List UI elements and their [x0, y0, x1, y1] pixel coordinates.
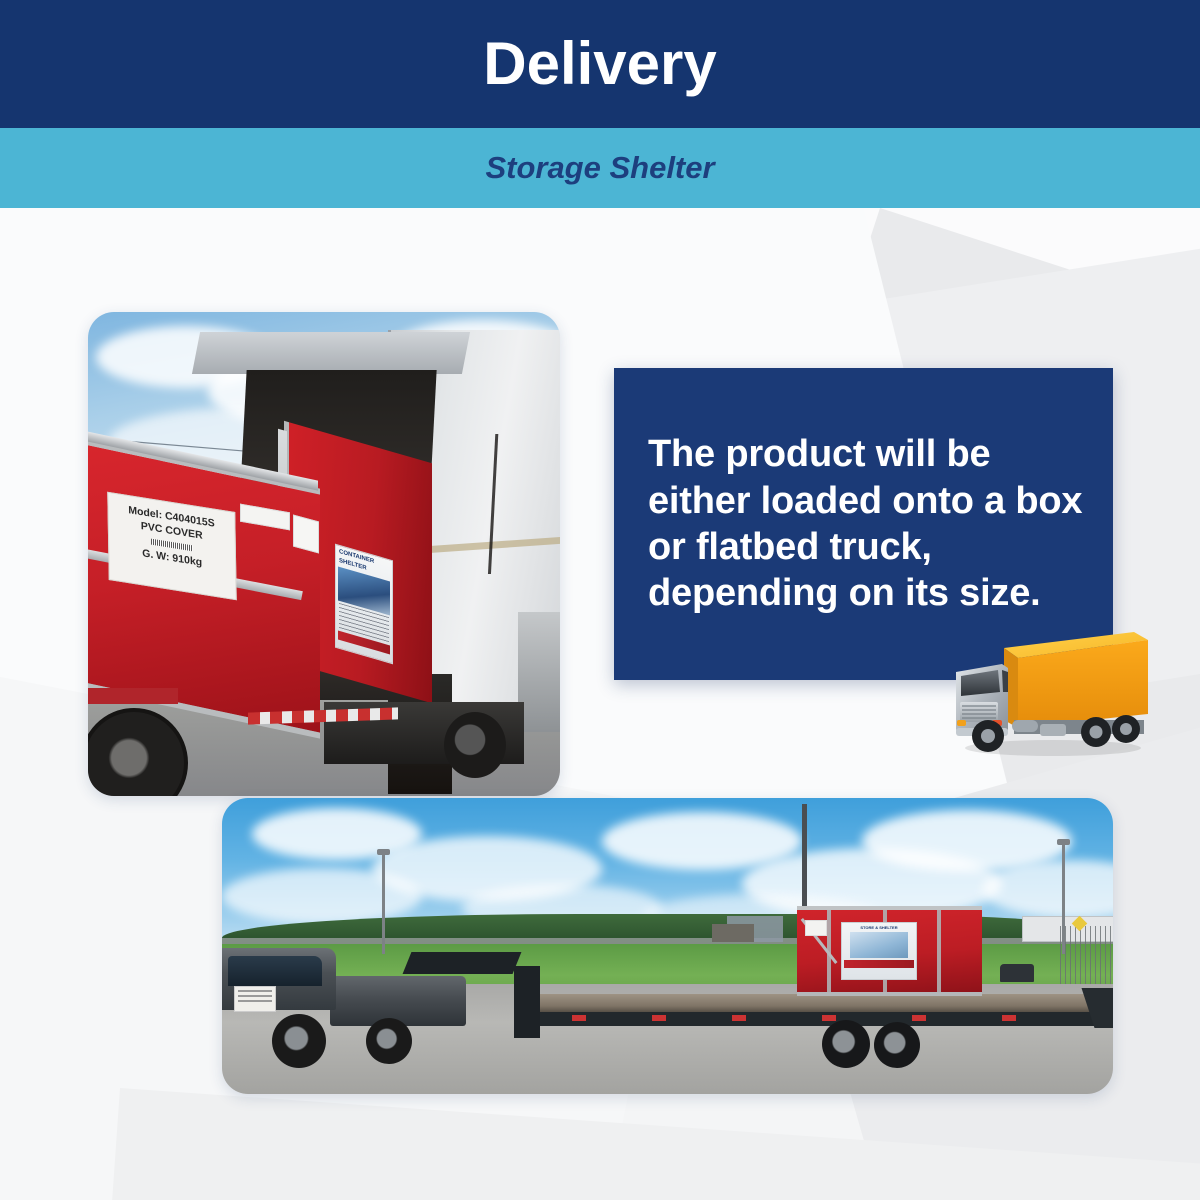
trailer-wheel [822, 1020, 870, 1068]
background-house [712, 924, 754, 942]
light-pole [1062, 844, 1065, 954]
trailer-deck [532, 994, 1102, 1014]
trailer-side-rail [532, 1012, 1102, 1026]
photo-flatbed-trailer: STORE & SHELTER [222, 798, 1113, 1094]
crate-product-poster: STORE & SHELTER [841, 922, 917, 980]
pickup-wheel [272, 1014, 326, 1068]
background-vehicle [1000, 964, 1034, 982]
pickup-truck-bed [330, 976, 466, 1026]
chain-link-fence [1060, 926, 1113, 988]
red-crate-on-trailer: STORE & SHELTER [797, 906, 982, 996]
pickup-wheel [366, 1018, 412, 1064]
crate-sticker [805, 920, 827, 936]
callout-text: The product will be either loaded onto a… [614, 431, 1113, 616]
poster-title: STORE & SHELTER [842, 923, 916, 930]
gooseneck-riser [514, 966, 540, 1038]
trailer-wheel [874, 1022, 920, 1068]
crate-product-poster: CONTAINER SHELTER [335, 544, 393, 665]
forklift-fork [88, 688, 178, 704]
page-title: Delivery [483, 34, 717, 94]
truck-wheel [444, 712, 506, 778]
delivery-slide: Delivery Storage Shelter [0, 0, 1200, 1200]
box-truck-icon [948, 628, 1148, 758]
pickup-door-document [234, 986, 276, 1012]
box-truck-roof [192, 332, 470, 374]
subheader-banner: Storage Shelter [0, 128, 1200, 208]
light-pole [382, 854, 385, 954]
truck-side-panel [518, 612, 560, 732]
photo-box-truck-loading: Model: C404015S PVC COVER G. W: 910kg CO… [88, 312, 560, 796]
page-subtitle: Storage Shelter [485, 150, 714, 186]
gooseneck-hitch [403, 952, 522, 974]
pickup-truck-windows [228, 956, 322, 986]
header-banner: Delivery [0, 0, 1200, 128]
crate-side-sticker [293, 515, 319, 554]
